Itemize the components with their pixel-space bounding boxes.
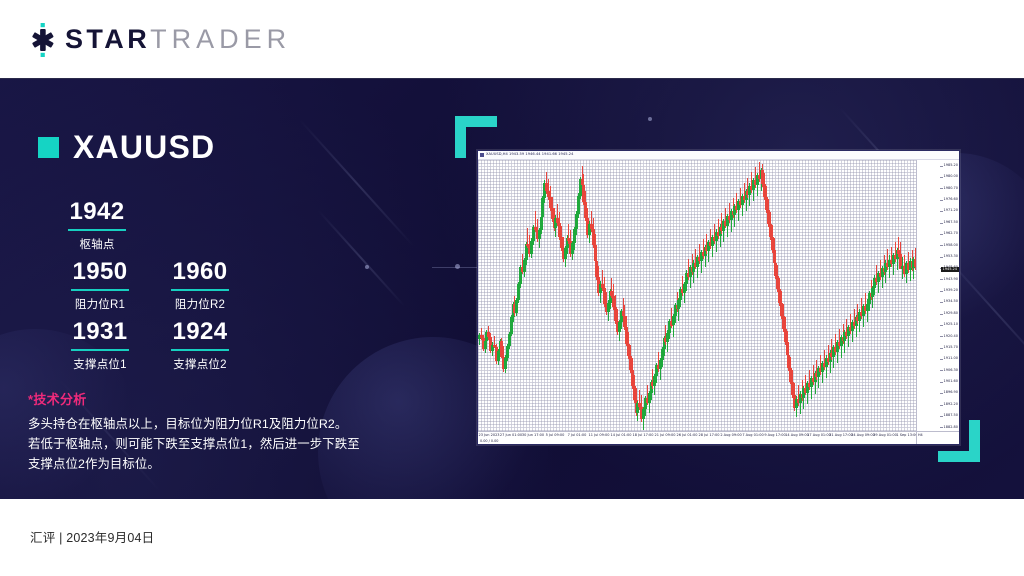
price-tick-label: 1920.40 — [944, 335, 958, 339]
price-tick-label: 1958.00 — [944, 244, 958, 248]
brand-logo: STARTRADER — [28, 23, 291, 57]
analysis-line-3: 支撑点位2作为目标位。 — [28, 454, 406, 474]
time-tick-label: 11 Jul 09:00 — [589, 434, 610, 438]
scroll-hint-label: 0.00 / 0.00 — [480, 439, 498, 443]
price-tick-label: 1929.80 — [944, 312, 958, 316]
candlestick-series — [478, 160, 916, 431]
level-pivot-label: 枢轴点 — [60, 236, 134, 252]
decor-hairline — [432, 267, 482, 268]
time-tick-label: 30 Jun 17:00 — [522, 434, 544, 438]
time-tick-label: 26 Jul 01:00 — [677, 434, 698, 438]
price-tick-label: 1882.80 — [944, 426, 958, 430]
time-tick-label: 23 Jun 2023 — [478, 434, 499, 438]
page-header: STARTRADER — [0, 0, 1024, 79]
level-resistance2-value: 1960 — [160, 259, 240, 284]
footer-caption: 汇评 | 2023年9月04日 — [30, 527, 154, 546]
symbol-bullet-icon — [38, 137, 59, 158]
price-tick-label: 1915.70 — [944, 346, 958, 350]
price-tick-label: 1985.20 — [944, 164, 958, 168]
price-tick-label: 1980.70 — [944, 187, 958, 191]
level-pivot-value: 1942 — [60, 199, 134, 224]
analysis-block: *技术分析 多头持仓在枢轴点以上，目标位为阻力位R1及阻力位R2。 若低于枢轴点… — [28, 389, 406, 474]
decor-dot — [648, 117, 652, 121]
time-tick-label: 21 Jul 09:00 — [655, 434, 676, 438]
level-resistance1: 1950 阻力位R1 — [60, 259, 140, 312]
price-tick-label: 1971.20 — [944, 209, 958, 213]
level-support1-label: 支撑点位1 — [60, 356, 140, 372]
timeframe-label: H4 — [918, 433, 923, 437]
current-price-label: 1945.24 — [941, 267, 959, 273]
time-tick-label: 14 Jul 01:00 — [611, 434, 632, 438]
price-tick-label: 1943.90 — [944, 278, 958, 282]
level-underline — [71, 289, 129, 291]
time-tick-label: 7 Jul 01:00 — [568, 434, 587, 438]
price-tick-label: 1892.20 — [944, 403, 958, 407]
price-tick-label: 1911.00 — [944, 357, 958, 361]
axis-corner-box: H4 — [916, 431, 959, 444]
level-resistance1-label: 阻力位R1 — [60, 296, 140, 312]
time-tick-label: 24 Aug 09:00 — [851, 434, 875, 438]
time-axis[interactable]: 0.00 / 0.00 23 Jun 202327 Jun 01:0030 Ju… — [478, 431, 916, 444]
brand-trader-text: TRADER — [150, 24, 291, 54]
price-tick-label: 1901.60 — [944, 380, 958, 384]
time-tick-label: 1 Sep 13:00 — [896, 434, 917, 438]
chart-window-icon — [480, 153, 484, 157]
level-support1: 1931 支撑点位1 — [60, 319, 140, 372]
analysis-title: *技术分析 — [28, 389, 406, 408]
time-tick-label: 14 Aug 09:00 — [785, 434, 809, 438]
price-tick-label: 1980.00 — [944, 175, 958, 179]
time-tick-label: 7 Aug 01:00 — [742, 434, 763, 438]
level-support2-label: 支撑点位2 — [160, 356, 240, 372]
main-stage: XAUUSD 1942 枢轴点 1950 阻力位R1 1960 阻力位R2 19… — [0, 79, 1024, 499]
price-tick-label: 1906.30 — [944, 369, 958, 373]
asterisk-star-icon — [28, 23, 58, 57]
level-underline — [68, 229, 126, 231]
analysis-line-1: 多头持仓在枢轴点以上，目标位为阻力位R1及阻力位R2。 — [28, 414, 406, 434]
symbol-heading: XAUUSD — [38, 131, 215, 163]
level-underline — [171, 289, 229, 291]
level-support2: 1924 支撑点位2 — [160, 319, 240, 372]
brand-wordmark: STARTRADER — [65, 26, 291, 53]
price-axis[interactable]: 1985.201980.001980.701976.601971.201967.… — [916, 160, 959, 431]
brand-star-text: STAR — [65, 24, 150, 54]
level-resistance2-label: 阻力位R2 — [160, 296, 240, 312]
info-panel: XAUUSD 1942 枢轴点 1950 阻力位R1 1960 阻力位R2 19… — [0, 79, 430, 499]
symbol-name: XAUUSD — [73, 131, 215, 163]
chart-titlebar: XAUUSD,H4 1943.59 1946.44 1941.66 1945.2… — [478, 151, 959, 160]
time-tick-label: 28 Jul 17:00 — [699, 434, 720, 438]
time-tick-label: 18 Jul 17:00 — [633, 434, 654, 438]
time-tick-label: 17 Aug 01:00 — [807, 434, 831, 438]
level-pivot: 1942 枢轴点 — [60, 199, 134, 252]
price-tick-label: 1939.20 — [944, 289, 958, 293]
time-tick-label: 29 Aug 01:00 — [873, 434, 897, 438]
level-underline — [171, 349, 229, 351]
price-tick-label: 1953.30 — [944, 255, 958, 259]
time-tick-label: 2 Aug 09:00 — [720, 434, 741, 438]
chart-window[interactable]: XAUUSD,H4 1943.59 1946.44 1941.66 1945.2… — [477, 150, 960, 445]
price-tick-label: 1925.10 — [944, 323, 958, 327]
price-tick-label: 1962.70 — [944, 232, 958, 236]
chart-title: XAUUSD,H4 1943.59 1946.44 1941.66 1945.2… — [486, 153, 573, 157]
time-tick-label: 5 Jul 09:00 — [546, 434, 565, 438]
level-support1-value: 1931 — [60, 319, 140, 344]
level-support2-value: 1924 — [160, 319, 240, 344]
level-resistance1-value: 1950 — [60, 259, 140, 284]
time-tick-label: 21 Aug 17:00 — [829, 434, 853, 438]
price-tick-label: 1976.60 — [944, 198, 958, 202]
price-tick-label: 1934.50 — [944, 300, 958, 304]
level-resistance2: 1960 阻力位R2 — [160, 259, 240, 312]
time-tick-label: 9 Aug 17:00 — [764, 434, 785, 438]
chart-plot-area[interactable] — [478, 160, 916, 431]
price-tick-label: 1887.50 — [944, 414, 958, 418]
level-underline — [71, 349, 129, 351]
page-footer: 汇评 | 2023年9月04日 — [0, 499, 1024, 576]
analysis-line-2: 若低于枢轴点，则可能下跌至支撑点位1，然后进一步下跌至 — [28, 434, 406, 454]
price-tick-label: 1896.90 — [944, 391, 958, 395]
price-tick-label: 1967.50 — [944, 221, 958, 225]
time-tick-label: 27 Jun 01:00 — [500, 434, 522, 438]
